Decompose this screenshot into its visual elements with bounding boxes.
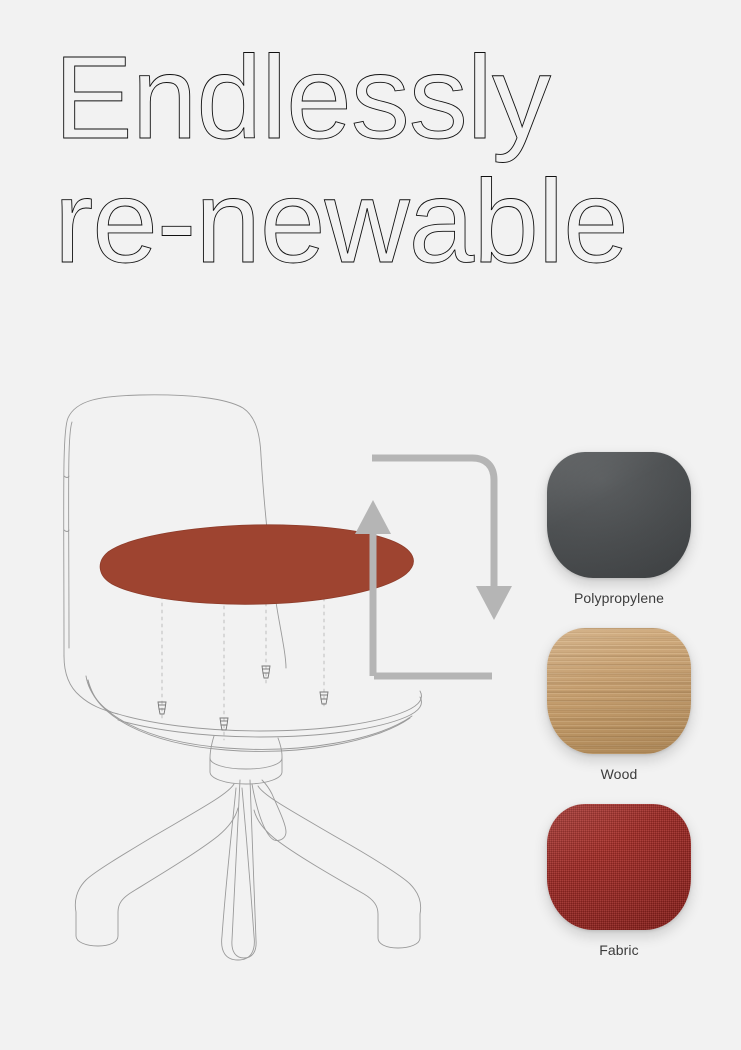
swatch-shape-wrap	[547, 452, 691, 578]
material-swatch-fabric[interactable]: Fabric	[524, 804, 714, 958]
poster-page: Endlessly re-newable	[0, 0, 741, 1050]
swatch-shape-wrap	[547, 628, 691, 754]
cycle-arrow-up-head	[355, 500, 391, 534]
chair-backrest-inner-edge	[69, 422, 72, 648]
chair-base-hub-plate	[210, 736, 282, 784]
seat-pad-shape-wood	[547, 628, 691, 754]
cycle-arrow-top-path	[372, 458, 494, 590]
material-swatch-wood[interactable]: Wood	[524, 628, 714, 782]
chair-base-hub-top	[210, 758, 282, 769]
material-swatch-list: Polypropylene Wood Fabric	[524, 452, 714, 980]
swatch-shape-wrap	[547, 804, 691, 930]
material-label-fabric: Fabric	[524, 942, 714, 958]
replaceable-seat-cycle-arrow	[352, 448, 527, 688]
material-swatch-polypropylene[interactable]: Polypropylene	[524, 452, 714, 606]
headline-line-2: re-newable	[54, 160, 674, 284]
chair-shell-left-side	[64, 656, 118, 714]
cycle-arrow-down-head	[476, 586, 512, 620]
fastener-screws	[158, 666, 328, 730]
page-title: Endlessly re-newable	[54, 36, 674, 284]
material-label-wood: Wood	[524, 766, 714, 782]
chair-seat-pan-outline	[88, 680, 410, 751]
seat-pad-shape-fabric	[547, 804, 691, 930]
headline-line-1: Endlessly	[54, 36, 674, 160]
material-label-polypropylene: Polypropylene	[524, 590, 714, 606]
chair-leg-back	[252, 780, 286, 841]
chair-leg-left	[75, 784, 238, 946]
seat-pad-shape-polypropylene	[547, 452, 691, 578]
chair-seat-shell-rim	[118, 691, 421, 731]
